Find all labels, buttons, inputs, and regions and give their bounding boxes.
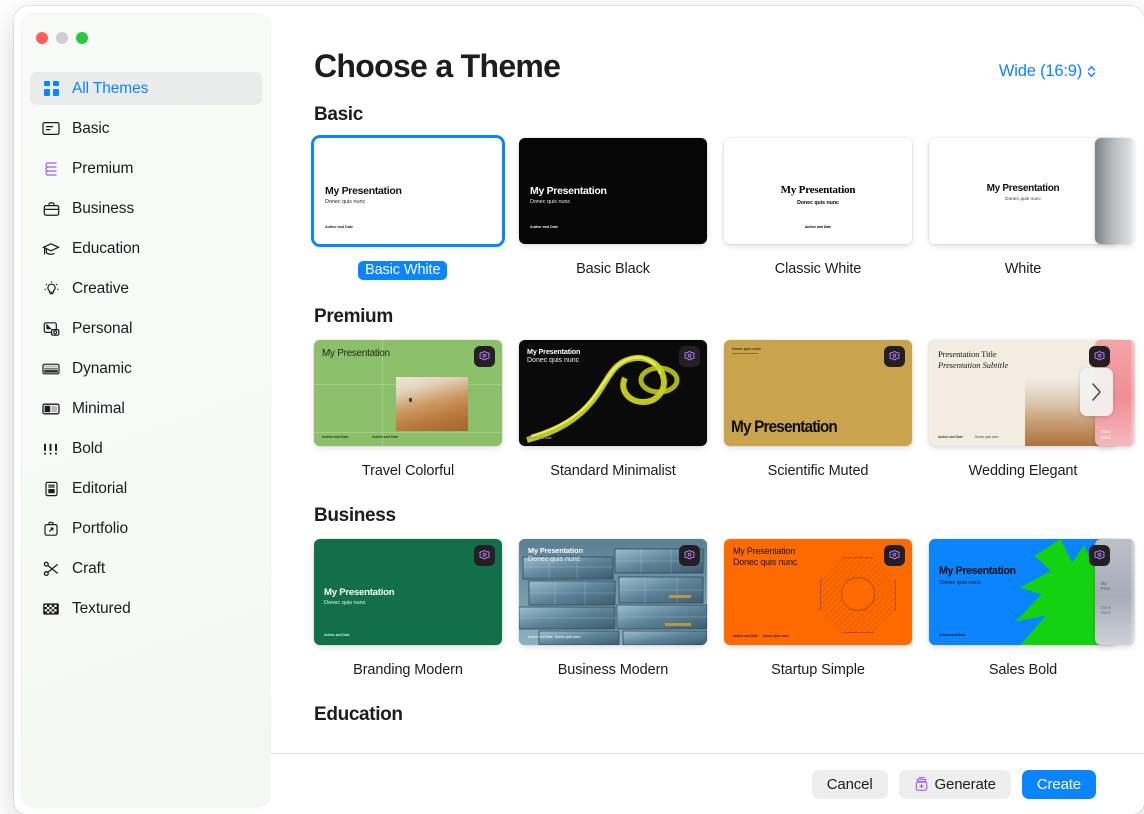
sidebar-item-textured[interactable]: Textured bbox=[30, 592, 262, 625]
maximize-button[interactable] bbox=[76, 32, 88, 44]
slide-title: My Presentation bbox=[324, 587, 394, 598]
slide-footer: Author and Date bbox=[325, 225, 353, 229]
theme-card-standard-minimalist[interactable]: My Presentation Donec quis nunc Author a… bbox=[519, 340, 724, 479]
slide-title: My Presentation bbox=[322, 348, 390, 360]
slide-divider bbox=[732, 353, 758, 354]
theme-name-label: Wedding Elegant bbox=[929, 463, 1117, 479]
theme-card-white[interactable]: My Presentation Donec quis nunc White bbox=[929, 138, 1134, 280]
sidebar-item-label: Textured bbox=[72, 600, 131, 618]
ribbon-icon bbox=[40, 159, 62, 179]
chevron-up-down-icon bbox=[1087, 65, 1096, 78]
theme-thumbnail-wrap: My Presentation Donec quis nunc Author a… bbox=[724, 138, 912, 247]
grid-icon bbox=[40, 79, 62, 99]
scroll-right-button[interactable] bbox=[1080, 368, 1113, 416]
triple-exclamation-icon bbox=[40, 439, 62, 459]
theme-thumbnail: My Presentation Donec quis nunc Author a… bbox=[519, 138, 707, 244]
window-controls bbox=[36, 32, 88, 44]
theme-thumbnail-wrap: My Presentation Donec quis nunc Author a… bbox=[314, 138, 502, 247]
create-label: Create bbox=[1037, 776, 1081, 793]
sidebar-item-bold[interactable]: Bold bbox=[30, 432, 262, 465]
page-title: Choose a Theme bbox=[314, 48, 560, 85]
sidebar-item-all-themes[interactable]: All Themes bbox=[30, 72, 262, 105]
slide-title: My Presentation bbox=[527, 347, 580, 356]
generate-label: Generate bbox=[935, 776, 996, 793]
theme-name-label: Business Modern bbox=[519, 662, 707, 678]
theme-card-partial-next[interactable] bbox=[1095, 138, 1135, 244]
theme-thumbnail: My Presentation Donec quis nunc Author a… bbox=[724, 138, 912, 244]
slide-title: My Presentation bbox=[724, 184, 912, 196]
ai-sparkle-badge-icon bbox=[1089, 346, 1110, 367]
slide-footer: Author and Date bbox=[324, 633, 350, 637]
sidebar-item-label: All Themes bbox=[72, 80, 148, 98]
theme-card-basic-black[interactable]: My Presentation Donec quis nunc Author a… bbox=[519, 138, 724, 280]
ai-generate-icon bbox=[914, 776, 929, 792]
sidebar-nav-list: All Themes Basic Premium bbox=[30, 72, 262, 632]
section-education-partial: Education bbox=[270, 704, 1144, 726]
sidebar-item-education[interactable]: Education bbox=[30, 232, 262, 265]
section-business: Business My Presentation Donec quis nunc… bbox=[270, 505, 1144, 678]
theme-card-startup-simple[interactable]: My PresentationDonec quis nunc Author an… bbox=[724, 539, 929, 678]
slide-subtitle: Donec quis nunc bbox=[528, 556, 580, 563]
graduation-cap-icon bbox=[40, 239, 62, 259]
gradient-bars-icon bbox=[40, 359, 62, 379]
slide-footer-secondary: Donec quis nunc bbox=[975, 435, 999, 439]
sidebar-item-label: Dynamic bbox=[72, 360, 132, 378]
theme-chooser-window: All Themes Basic Premium bbox=[14, 6, 1144, 814]
sidebar-item-label: Premium bbox=[72, 160, 133, 178]
sidebar-item-basic[interactable]: Basic bbox=[30, 112, 262, 145]
theme-name-label: Travel Colorful bbox=[314, 463, 502, 479]
slide-footer: Author and Date bbox=[527, 436, 552, 440]
sidebar-item-premium[interactable]: Premium bbox=[30, 152, 262, 185]
section-heading: Premium bbox=[314, 306, 1144, 328]
slide-footer: Author and Date bbox=[528, 635, 553, 639]
sidebar-item-label: Portfolio bbox=[72, 520, 128, 538]
theme-card-travel-colorful[interactable]: My Presentation Author and Date Author a… bbox=[314, 340, 519, 479]
generate-button[interactable]: Generate bbox=[899, 770, 1011, 799]
minimize-button[interactable] bbox=[56, 32, 68, 44]
briefcase-icon bbox=[40, 199, 62, 219]
sidebar-item-personal[interactable]: Personal bbox=[30, 312, 262, 345]
slide-title: My Presentation bbox=[929, 183, 1117, 194]
theme-thumbnail-wrap: My Presentation Donec quis nunc Author a… bbox=[519, 340, 707, 449]
slide-footer-secondary: Author and Date bbox=[372, 435, 398, 439]
theme-thumbnail-wrap: My Presentation Donec quis nunc Author a… bbox=[929, 539, 1117, 648]
slide-title: My Presentation bbox=[530, 185, 607, 197]
slide-subtitle: Donec quis nunc bbox=[929, 197, 1117, 202]
theme-thumbnail-wrap: My Presentation Donec quis nunc Author a… bbox=[519, 539, 707, 648]
slide-footer: Author and Date bbox=[322, 435, 348, 439]
theme-name-label: Startup Simple bbox=[724, 662, 912, 678]
theme-thumbnail: My Presentation Donec quis nunc Author a… bbox=[314, 138, 502, 244]
theme-card-basic-white[interactable]: My Presentation Donec quis nunc Author a… bbox=[314, 138, 519, 280]
slide-footer: Author and Date bbox=[939, 633, 965, 637]
slide-preview: My Presentation Donec quis nunc bbox=[929, 138, 1117, 244]
slide-subtitle: Donec quis nunc bbox=[527, 357, 579, 364]
lightbulb-icon bbox=[40, 279, 62, 299]
cancel-label: Cancel bbox=[827, 776, 873, 793]
sidebar-item-minimal[interactable]: Minimal bbox=[30, 392, 262, 425]
section-heading: Basic bbox=[314, 104, 1144, 126]
two-column-icon bbox=[40, 399, 62, 419]
slide-footer-secondary: Donec quis nunc bbox=[763, 634, 789, 638]
sidebar-item-portfolio[interactable]: Portfolio bbox=[30, 512, 262, 545]
theme-scroll-area[interactable]: Basic My Presentation Donec quis nunc Au… bbox=[270, 104, 1144, 759]
theme-card-sales-bold[interactable]: My Presentation Donec quis nunc Author a… bbox=[929, 539, 1134, 678]
slide-subtitle: Donec quis nunc bbox=[724, 200, 912, 206]
slide-photo bbox=[396, 377, 468, 431]
slide-subtitle: Donec quis nunc bbox=[324, 600, 366, 606]
slide-title: My Presentation bbox=[325, 185, 402, 197]
sidebar-item-label: Bold bbox=[72, 440, 103, 458]
card-icon bbox=[40, 119, 62, 139]
slide-subtitle: Donec quis nunc bbox=[939, 580, 981, 586]
sidebar-item-editorial[interactable]: Editorial bbox=[30, 472, 262, 505]
theme-card-business-modern[interactable]: My Presentation Donec quis nunc Author a… bbox=[519, 539, 724, 678]
section-heading: Business bbox=[314, 505, 1144, 527]
theme-thumbnail: My Presentation Donec quis nunc bbox=[929, 138, 1117, 244]
theme-name-label: Branding Modern bbox=[314, 662, 502, 678]
sidebar-item-label: Minimal bbox=[72, 400, 125, 418]
ai-sparkle-badge-icon bbox=[474, 545, 495, 566]
theme-thumbnail-wrap: Donec quis nunc My Presentation bbox=[724, 340, 912, 449]
sidebar-item-label: Editorial bbox=[72, 480, 127, 498]
aspect-ratio-selector[interactable]: Wide (16:9) bbox=[999, 62, 1096, 81]
slide-subtitle: Donec quis nunc bbox=[530, 199, 570, 205]
photo-cursor-icon bbox=[40, 319, 62, 339]
theme-thumbnail-wrap: My Presentation Author and Date Author a… bbox=[314, 340, 502, 449]
sidebar-item-label: Basic bbox=[72, 120, 109, 138]
create-button[interactable]: Create bbox=[1022, 770, 1096, 799]
theme-name-label: Scientific Muted bbox=[724, 463, 912, 479]
sidebar-item-business[interactable]: Business bbox=[30, 192, 262, 225]
theme-name-label: White bbox=[929, 261, 1117, 277]
theme-card-branding-modern[interactable]: My Presentation Donec quis nunc Author a… bbox=[314, 539, 519, 678]
slide-subtitle: Donec quis nunc bbox=[732, 347, 761, 351]
theme-card-wedding-elegant[interactable]: Presentation Title Presentation Subtitle… bbox=[929, 340, 1134, 479]
theme-card-classic-white[interactable]: My Presentation Donec quis nunc Author a… bbox=[724, 138, 929, 280]
slide-title: My Presentation bbox=[528, 546, 583, 555]
ai-sparkle-badge-icon bbox=[884, 545, 905, 566]
ai-sparkle-badge-icon bbox=[474, 346, 495, 367]
slide-preview: My Presentation Donec quis nunc Author a… bbox=[724, 138, 912, 244]
theme-row: My Presentation Author and Date Author a… bbox=[270, 340, 1144, 479]
section-heading: Education bbox=[314, 704, 1144, 726]
sidebar-item-label: Personal bbox=[72, 320, 132, 338]
aspect-ratio-label: Wide (16:9) bbox=[999, 62, 1082, 81]
slide-footer: Author and Date bbox=[938, 435, 963, 439]
ai-sparkle-badge-icon bbox=[679, 346, 700, 367]
dialog-footer: Cancel Generate Create bbox=[270, 753, 1144, 814]
checker-icon bbox=[40, 599, 62, 619]
scissors-icon bbox=[40, 559, 62, 579]
main-header: Choose a Theme Wide (16:9) bbox=[270, 6, 1144, 104]
theme-name-label: Classic White bbox=[724, 261, 912, 277]
theme-thumbnail-wrap: My Presentation Donec quis nunc bbox=[929, 138, 1117, 247]
slide-footer-secondary: Donec quis nunc bbox=[555, 635, 581, 639]
slide-preview: My Presentation Donec quis nunc Author a… bbox=[314, 138, 502, 244]
theme-row: My Presentation Donec quis nunc Author a… bbox=[270, 138, 1144, 280]
sidebar-item-label: Creative bbox=[72, 280, 129, 298]
slide-title: My Presentation bbox=[939, 565, 1016, 577]
theme-thumbnail-wrap: Presentation Title Presentation Subtitle… bbox=[929, 340, 1117, 449]
sidebar-item-creative[interactable]: Creative bbox=[30, 272, 262, 305]
theme-thumbnail-wrap: My Presentation Donec quis nunc Author a… bbox=[519, 138, 707, 247]
theme-card-scientific-muted[interactable]: Donec quis nunc My Presentation bbox=[724, 340, 929, 479]
slide-subtitle: Donec quis nunc bbox=[325, 199, 365, 205]
slide-footer: Author and Date bbox=[530, 225, 558, 229]
document-icon bbox=[40, 479, 62, 499]
slide-title: My PresentationDonec quis nunc bbox=[733, 546, 797, 568]
theme-row: My Presentation Donec quis nunc Author a… bbox=[270, 539, 1144, 678]
slide-footer: Author and Date bbox=[733, 634, 758, 638]
theme-name-label: Sales Bold bbox=[929, 662, 1117, 678]
slide-title: Presentation Title bbox=[938, 349, 997, 359]
sidebar-item-label: Education bbox=[72, 240, 140, 258]
ai-sparkle-badge-icon bbox=[884, 346, 905, 367]
slide-preview: My Presentation Donec quis nunc Author a… bbox=[519, 138, 707, 244]
main-content: Choose a Theme Wide (16:9) Basic bbox=[270, 6, 1144, 814]
slide-footer: Author and Date bbox=[724, 225, 912, 229]
sidebar-item-label: Business bbox=[72, 200, 134, 218]
slide-subtitle: Presentation Subtitle bbox=[938, 361, 1008, 370]
sidebar: All Themes Basic Premium bbox=[22, 14, 270, 806]
theme-name-badge: Basic White bbox=[358, 261, 447, 280]
ai-sparkle-badge-icon bbox=[679, 545, 700, 566]
section-basic: Basic My Presentation Donec quis nunc Au… bbox=[270, 104, 1144, 280]
theme-name-label: Standard Minimalist bbox=[519, 463, 707, 479]
ai-sparkle-badge-icon bbox=[1089, 545, 1110, 566]
sidebar-item-dynamic[interactable]: Dynamic bbox=[30, 352, 262, 385]
close-button[interactable] bbox=[36, 32, 48, 44]
sidebar-item-craft[interactable]: Craft bbox=[30, 552, 262, 585]
theme-name-label: Basic Black bbox=[519, 261, 707, 277]
theme-thumbnail-wrap: My PresentationDonec quis nunc Author an… bbox=[724, 539, 912, 648]
slide-title: My Presentation bbox=[731, 418, 837, 437]
cancel-button[interactable]: Cancel bbox=[812, 770, 888, 799]
briefcase-pen-icon bbox=[40, 519, 62, 539]
sidebar-item-label: Craft bbox=[72, 560, 105, 578]
slide-graphic-hole bbox=[841, 577, 875, 611]
theme-thumbnail-wrap: My Presentation Donec quis nunc Author a… bbox=[314, 539, 502, 648]
section-premium: Premium My Presentation bbox=[270, 306, 1144, 479]
